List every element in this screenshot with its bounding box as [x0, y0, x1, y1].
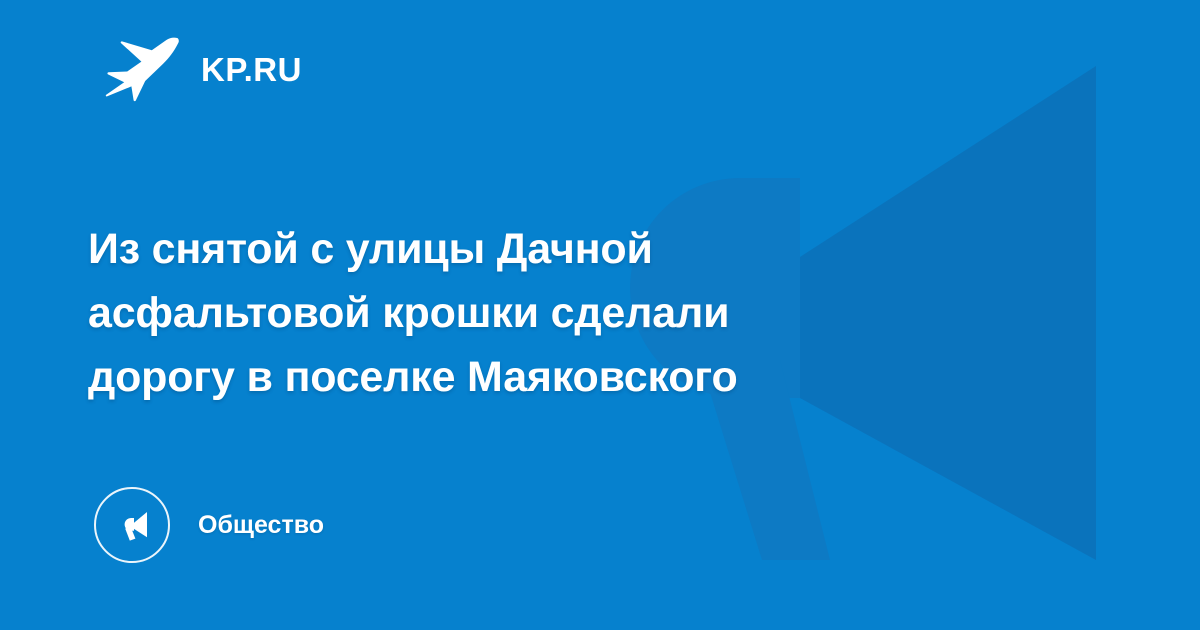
brand-logo-lockup[interactable]: KP.RU: [105, 38, 302, 100]
rubric-icon-circle: [94, 487, 170, 563]
swallow-bird-icon: [105, 36, 179, 102]
article-headline: Из снятой с улицы Дачной асфальтовой кро…: [88, 217, 1028, 409]
headline-line-2: асфальтовой крошки сделали: [88, 281, 1028, 345]
rubric-badge[interactable]: Общество: [94, 484, 324, 566]
article-share-card: KP.RU Из снятой с улицы Дачной асфальтов…: [0, 0, 1200, 630]
brand-name-text: KP.RU: [201, 53, 302, 86]
megaphone-icon: [112, 505, 152, 545]
rubric-label-text: Общество: [198, 513, 324, 538]
headline-line-1: Из снятой с улицы Дачной: [88, 217, 1028, 281]
headline-line-3: дорогу в поселке Маяковского: [88, 345, 1028, 409]
